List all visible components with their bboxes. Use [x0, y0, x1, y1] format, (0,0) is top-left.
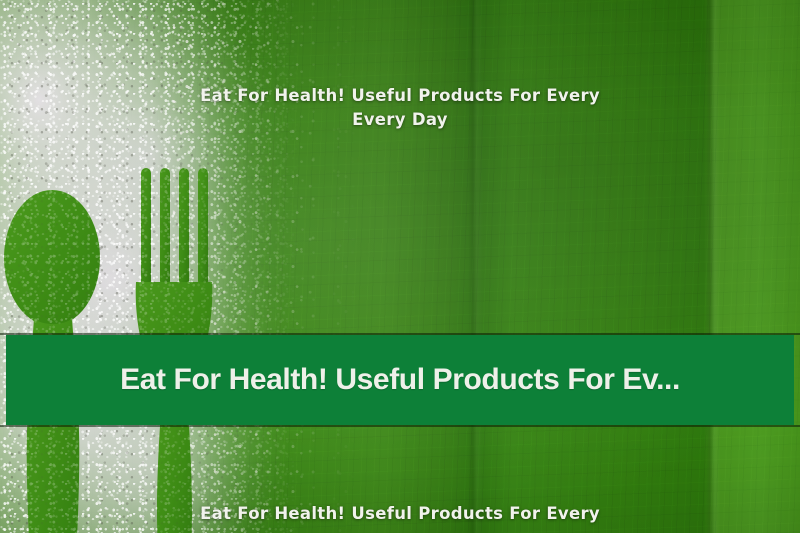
screenshot-canvas: Eat For Health! Useful Products For Ever… [0, 0, 800, 533]
banner-title: Eat For Health! Useful Products For Ev..… [120, 363, 680, 397]
powdered-sugar-overlay [0, 0, 310, 533]
banner-seam-bottom [0, 425, 800, 427]
sugar-granules-overlay [0, 0, 310, 533]
banner-bar[interactable]: Eat For Health! Useful Products For Ev..… [6, 335, 794, 425]
